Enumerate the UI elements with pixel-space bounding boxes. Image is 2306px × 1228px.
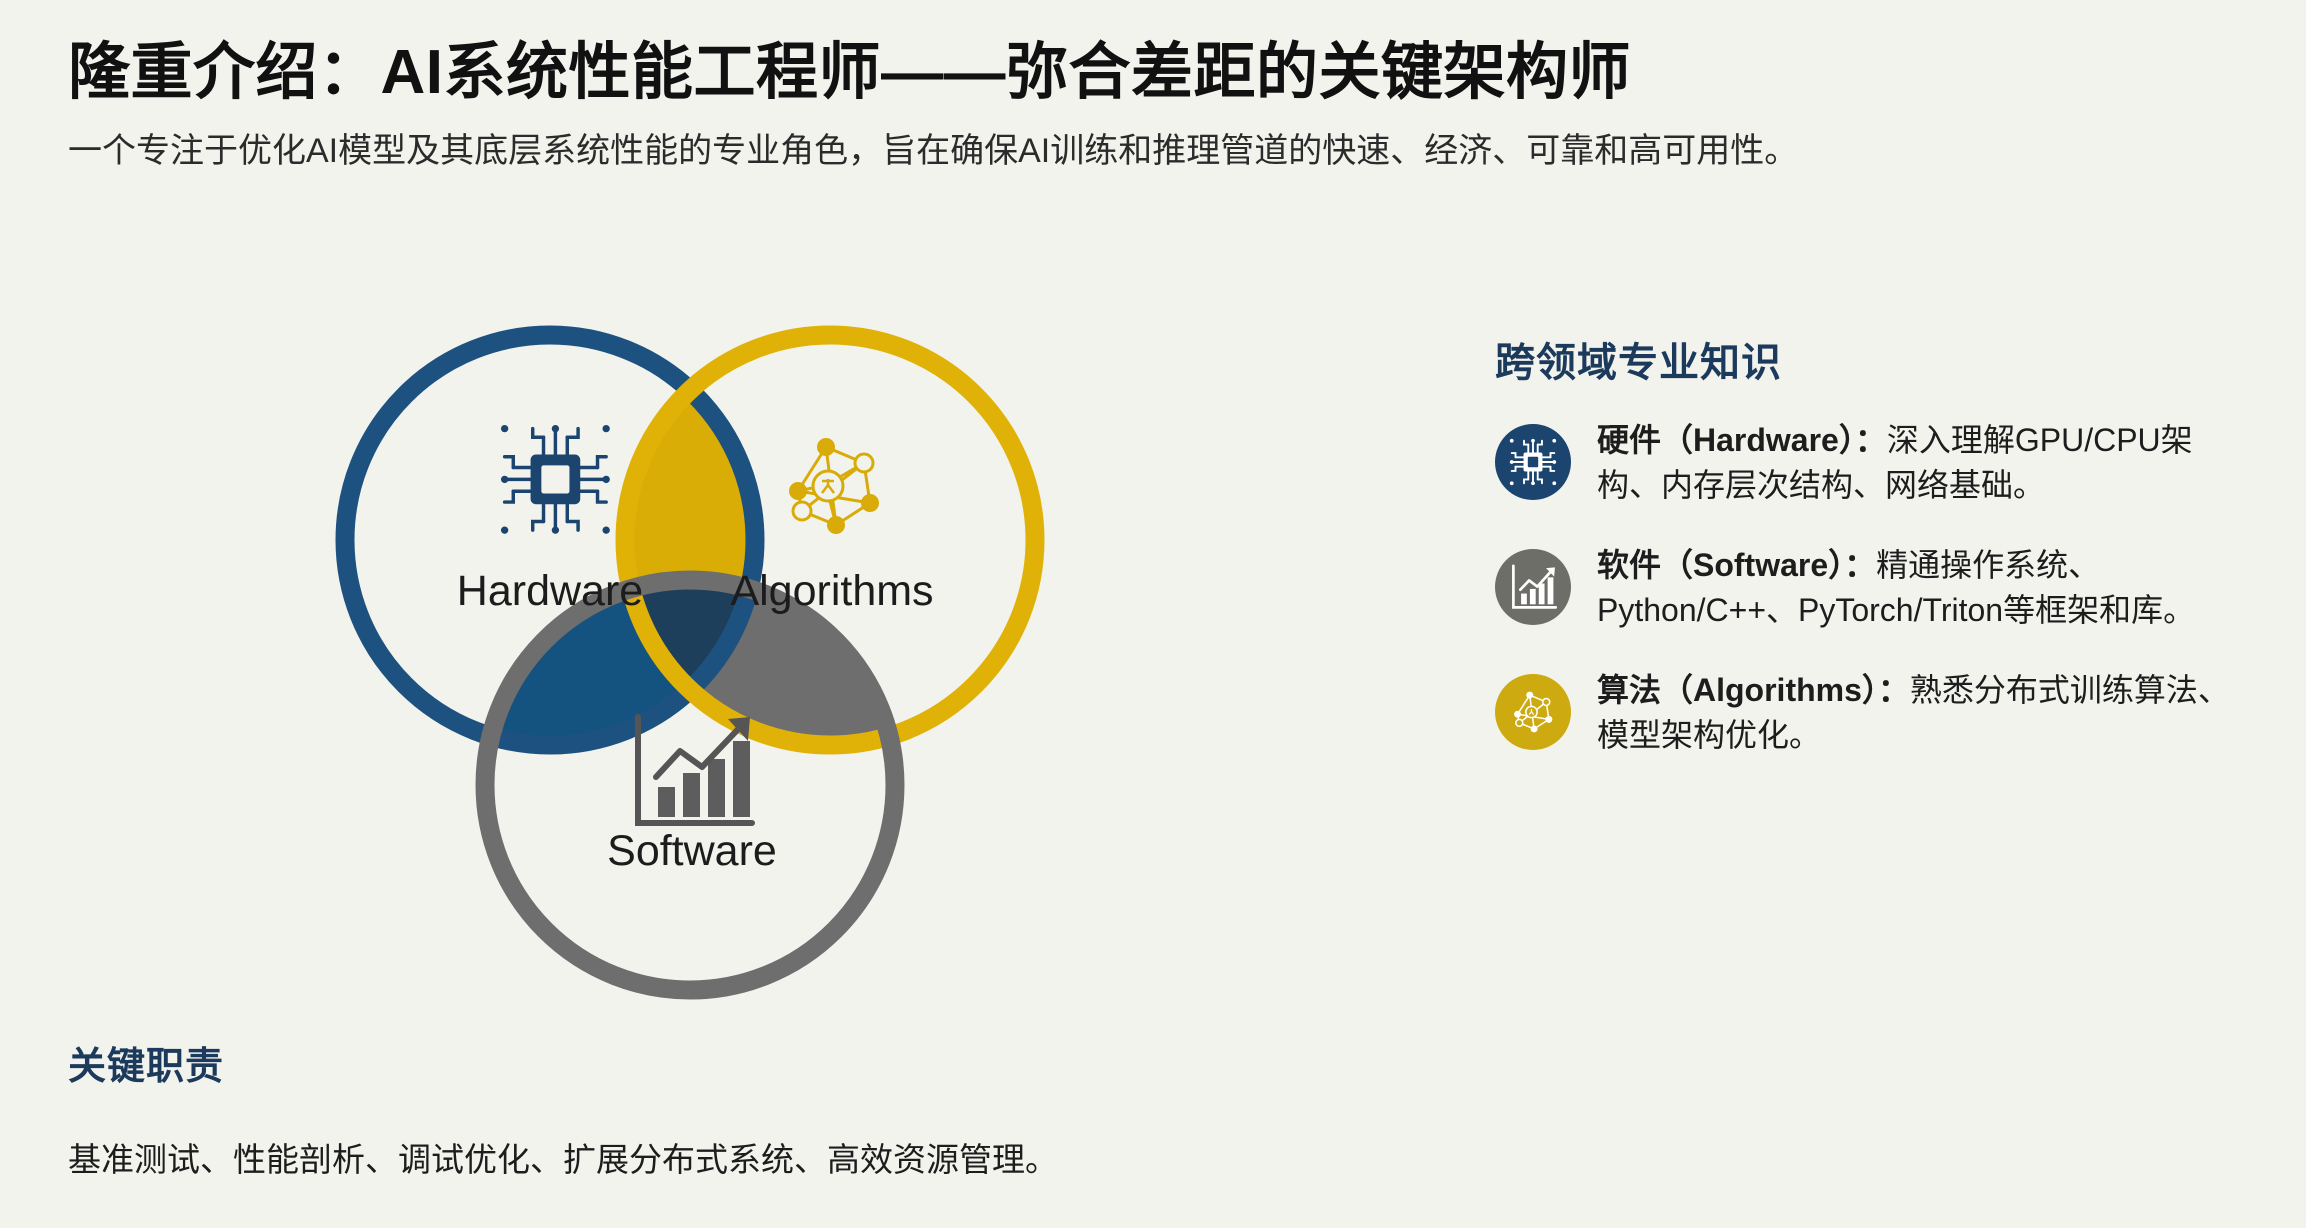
- expertise-item-text: 硬件（Hardware）：深入理解GPU/CPU架构、内存层次结构、网络基础。: [1597, 418, 2255, 509]
- neural-network-icon: [789, 438, 879, 534]
- page-title: 隆重介绍：AI系统性能工程师——弥合差距的关键架构师: [68, 38, 2248, 107]
- venn-label-algorithms: Algorithms: [730, 567, 933, 615]
- venn-label-hardware: Hardware: [457, 567, 643, 615]
- expertise-item-algorithms[interactable]: 算法（Algorithms）：熟悉分布式训练算法、模型架构优化。: [1495, 668, 2255, 759]
- microchip-icon: [501, 425, 610, 534]
- expertise-item-text: 算法（Algorithms）：熟悉分布式训练算法、模型架构优化。: [1597, 668, 2255, 759]
- bar-chart-growth-icon: [1495, 549, 1571, 625]
- expertise-panel: 跨领域专业知识: [1495, 330, 2255, 793]
- expertise-item-term: 软件（Software）：: [1597, 547, 1876, 583]
- expertise-item-hardware[interactable]: 硬件（Hardware）：深入理解GPU/CPU架构、内存层次结构、网络基础。: [1495, 418, 2255, 509]
- expertise-item-term: 硬件（Hardware）：: [1597, 422, 1887, 458]
- expertise-item-software[interactable]: 软件（Software）：精通操作系统、Python/C++、PyTorch/T…: [1495, 543, 2255, 634]
- key-duties-section: 关键职责 基准测试、性能剖析、调试优化、扩展分布式系统、高效资源管理。: [68, 1035, 1428, 1183]
- duties-heading: 关键职责: [68, 1035, 1428, 1090]
- expertise-item-text: 软件（Software）：精通操作系统、Python/C++、PyTorch/T…: [1597, 543, 2255, 634]
- venn-label-software: Software: [607, 827, 777, 875]
- page-header: 隆重介绍：AI系统性能工程师——弥合差距的关键架构师 一个专注于优化AI模型及其…: [68, 38, 2248, 175]
- expertise-heading: 跨领域专业知识: [1495, 330, 2255, 388]
- duties-text: 基准测试、性能剖析、调试优化、扩展分布式系统、高效资源管理。: [68, 1138, 1428, 1183]
- page-subtitle: 一个专注于优化AI模型及其底层系统性能的专业角色，旨在确保AI训练和推理管道的快…: [68, 129, 2248, 175]
- venn-overlap-fills: [485, 335, 1035, 990]
- expertise-item-term: 算法（Algorithms）：: [1597, 672, 1910, 708]
- neural-network-icon: [1495, 674, 1571, 750]
- venn-diagram: Hardware Algorithms Software: [250, 275, 1130, 1035]
- bar-chart-growth-icon: [638, 717, 752, 823]
- microchip-icon: [1495, 424, 1571, 500]
